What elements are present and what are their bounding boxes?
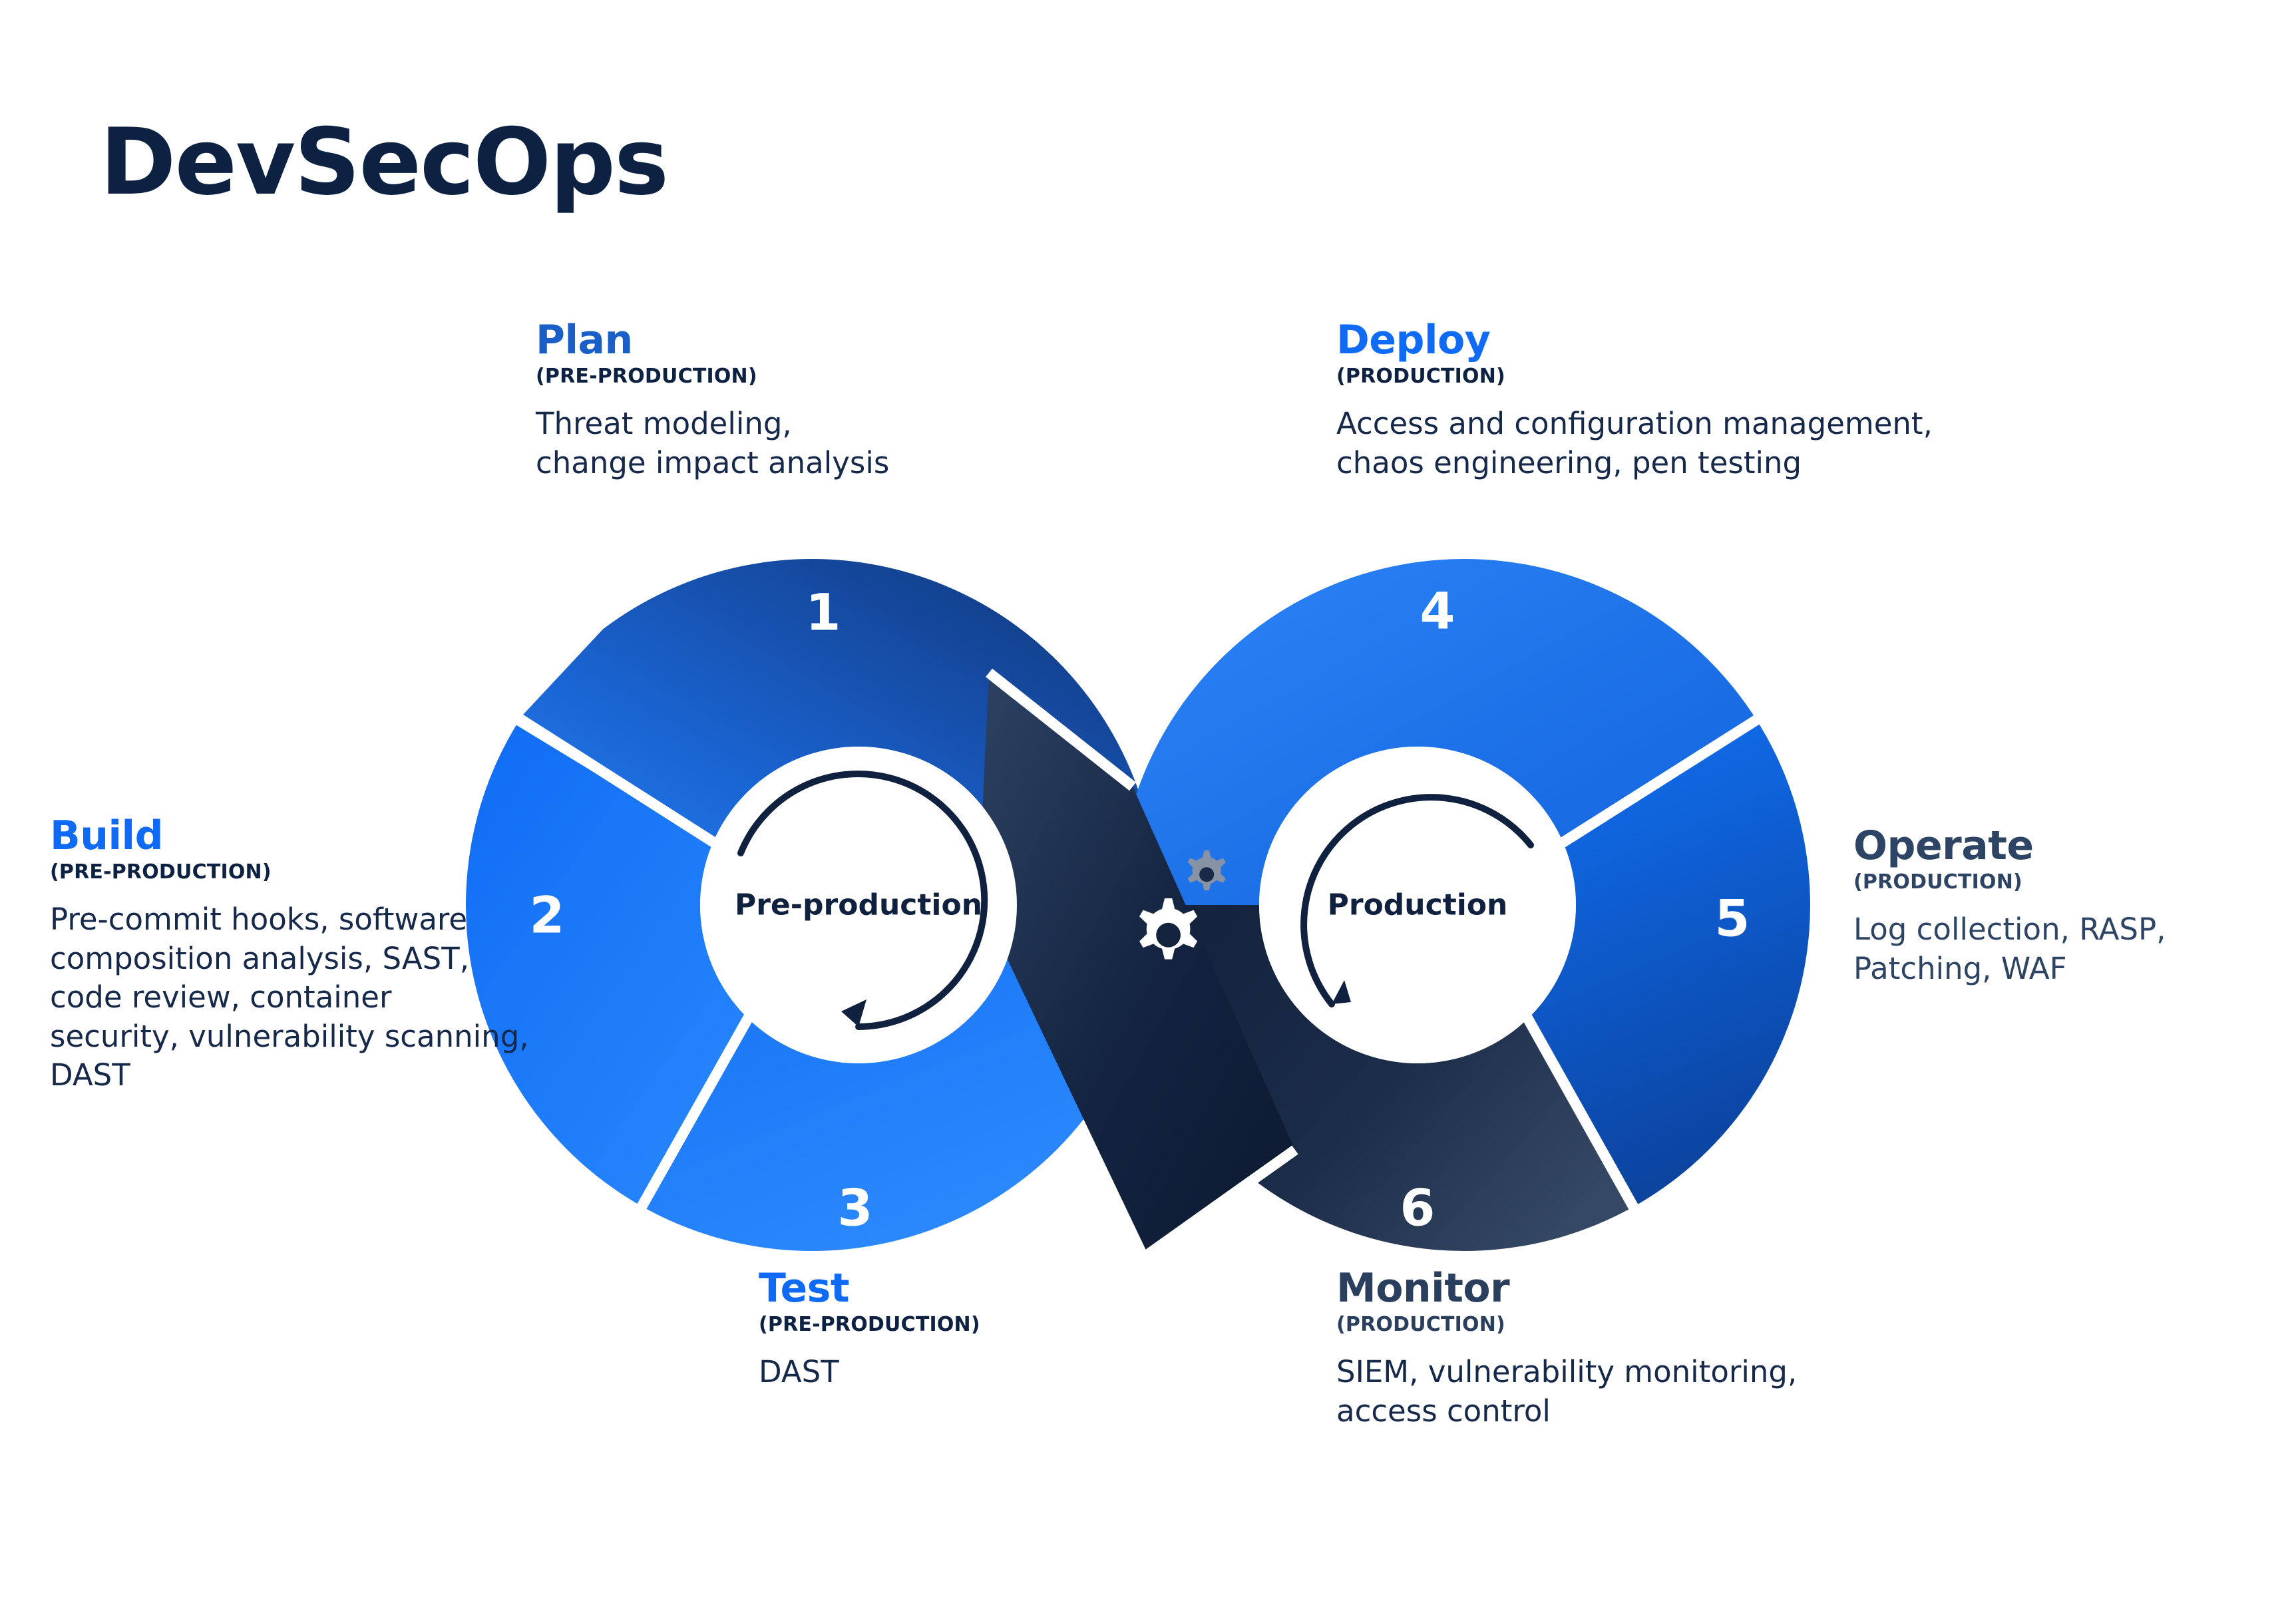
- segment-number-6: 6: [1400, 1178, 1435, 1238]
- stage-block-test: Test (PRE-PRODUCTION) DAST: [759, 1268, 1225, 1392]
- stage-title-test: Test: [759, 1268, 1225, 1310]
- stage-block-deploy: Deploy (PRODUCTION) Access and configura…: [1336, 319, 2201, 482]
- stage-block-plan: Plan (PRE-PRODUCTION) Threat modeling, c…: [536, 319, 1121, 482]
- stage-env-plan: (PRE-PRODUCTION): [536, 365, 1121, 387]
- segment-number-1: 1: [806, 583, 841, 642]
- stage-title-monitor: Monitor: [1336, 1268, 2035, 1310]
- segment-number-2: 2: [530, 886, 565, 945]
- stage-title-build: Build: [50, 815, 529, 857]
- stage-desc-deploy: Access and configuration management, cha…: [1336, 405, 2201, 482]
- pre-production-label: Pre-production: [735, 888, 982, 922]
- stage-env-deploy: (PRODUCTION): [1336, 365, 2201, 387]
- stage-desc-test: DAST: [759, 1353, 1225, 1392]
- stage-desc-monitor: SIEM, vulnerability monitoring, access c…: [1336, 1353, 2035, 1431]
- production-label: Production: [1328, 888, 1508, 922]
- stage-block-build: Build (PRE-PRODUCTION) Pre-commit hooks,…: [50, 815, 529, 1095]
- stage-title-operate: Operate: [1853, 825, 2279, 867]
- devsecops-infinity-diagram: Pre-production Production 1 2 3 4 5 6: [459, 552, 1817, 1258]
- stage-desc-build: Pre-commit hooks, software composition a…: [50, 900, 529, 1095]
- segment-number-4: 4: [1420, 582, 1455, 641]
- segment-number-3: 3: [838, 1178, 873, 1238]
- stage-env-test: (PRE-PRODUCTION): [759, 1314, 1225, 1335]
- diagram-canvas: DevSecOps: [0, 0, 2296, 1601]
- stage-desc-operate: Log collection, RASP, Patching, WAF: [1853, 910, 2279, 988]
- stage-block-operate: Operate (PRODUCTION) Log collection, RAS…: [1853, 825, 2279, 988]
- stage-desc-plan: Threat modeling, change impact analysis: [536, 405, 1121, 482]
- stage-title-plan: Plan: [536, 319, 1121, 361]
- stage-block-monitor: Monitor (PRODUCTION) SIEM, vulnerability…: [1336, 1268, 2035, 1431]
- stage-env-build: (PRE-PRODUCTION): [50, 861, 529, 883]
- segment-number-5: 5: [1715, 889, 1750, 948]
- stage-env-monitor: (PRODUCTION): [1336, 1314, 2035, 1335]
- page-title: DevSecOps: [100, 116, 668, 208]
- stage-title-deploy: Deploy: [1336, 319, 2201, 361]
- stage-env-operate: (PRODUCTION): [1853, 871, 2279, 893]
